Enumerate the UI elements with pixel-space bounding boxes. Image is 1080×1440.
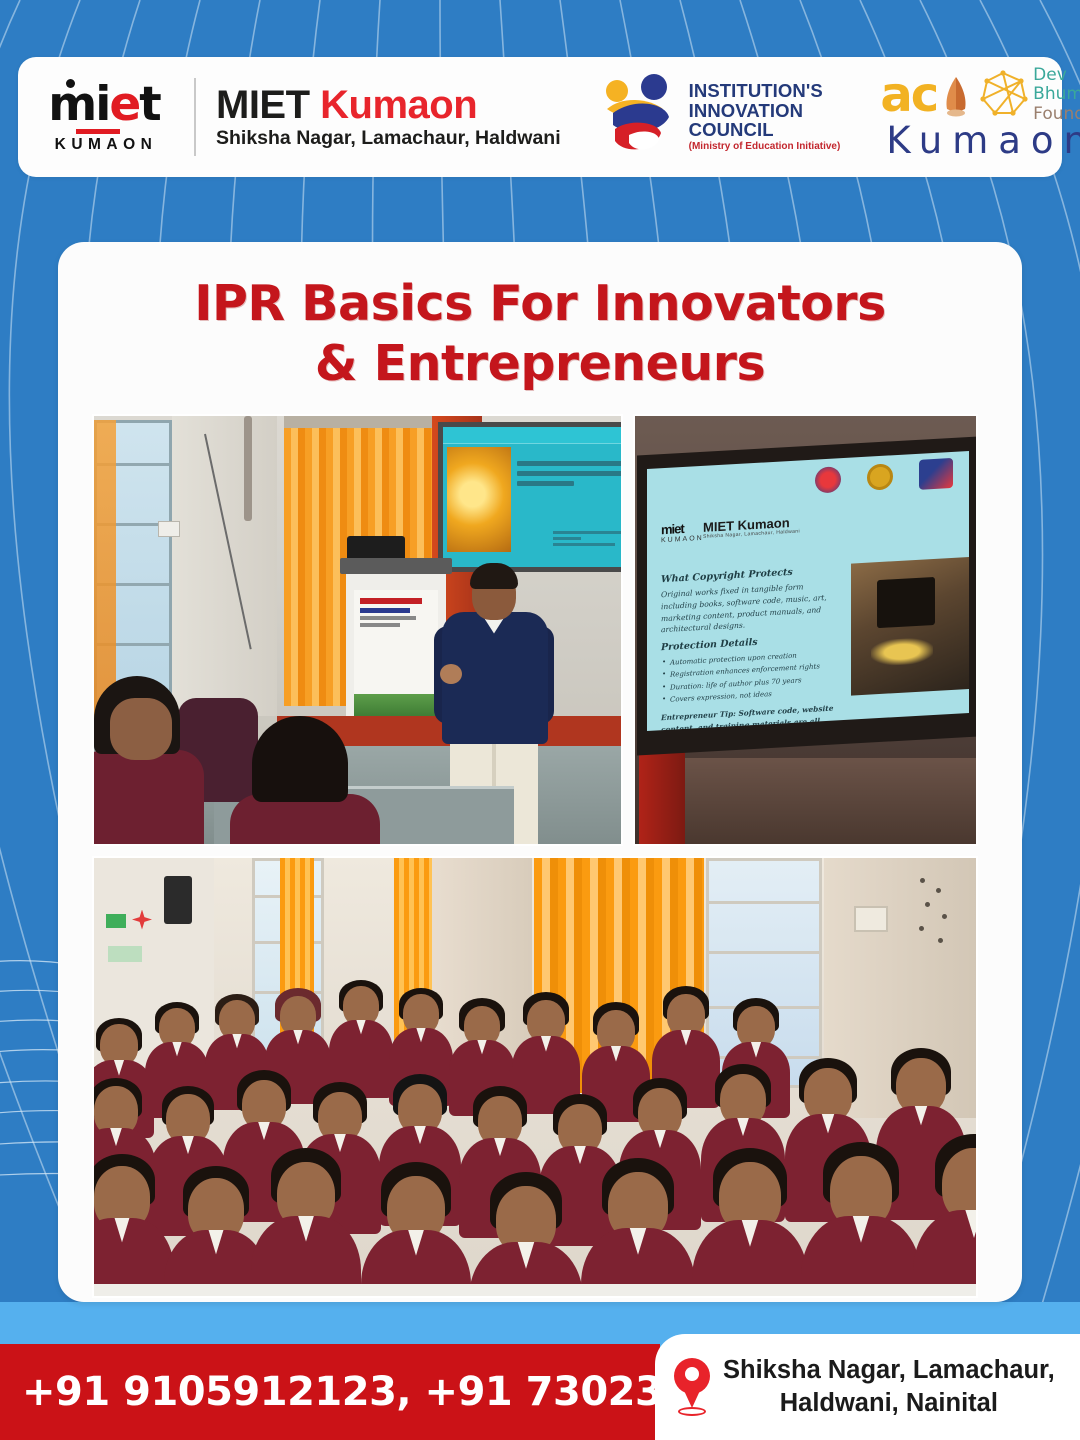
location-pin-icon (669, 1358, 715, 1416)
miet-e: e (109, 77, 139, 132)
address-line-1: Shiksha Nagar, Lamachaur, (723, 1354, 1055, 1387)
institute-name-miet: MIET (216, 83, 320, 127)
iic-logo-block: INSTITUTION'S INNOVATION COUNCIL (Minist… (599, 73, 841, 161)
photo-projected-copyright-slide: mietKUMAON MIET Kumaon Shiksha Nagar, La… (633, 414, 978, 846)
miet-logo-block: miet KUMAON MIET Kumaon Shiksha Nagar, L… (34, 78, 561, 156)
namaste-hands-icon (939, 73, 973, 117)
address-line-2: Haldwani, Nainital (723, 1387, 1055, 1420)
audience-person (698, 1148, 802, 1298)
slide-logo-strip (443, 427, 623, 444)
photo-row-top: mietKUMAON MIET Kumaon Shiksha Nagar, La… (92, 414, 988, 846)
institute-name-kumaon: Kumaon (320, 83, 477, 127)
iic-emblem-icon (599, 73, 679, 161)
bhumi-text: Bhumi (1033, 85, 1080, 104)
iic-ministry-note: (Ministry of Education Initiative) (689, 142, 841, 152)
slide-partner-logos (815, 457, 953, 495)
institute-name-block: MIET Kumaon Shiksha Nagar, Lamachaur, Ha… (216, 85, 561, 150)
audience-person (366, 1162, 466, 1298)
window-left-curtain (94, 420, 116, 720)
red-curtain-bottom (639, 752, 685, 844)
slide-photo-monitor (877, 576, 935, 627)
dev-text: Dev (1033, 66, 1080, 85)
front-student-1-body (92, 750, 204, 846)
iic-text-block: INSTITUTION'S INNOVATION COUNCIL (Minist… (689, 81, 841, 152)
audience-person (92, 1154, 170, 1298)
page-title-line1: IPR Basics For Innovators (92, 274, 988, 334)
miet-kumaon-subtext: KUMAON (38, 137, 174, 153)
audience-crowd (94, 958, 976, 1288)
slide-bulb-image (447, 447, 511, 552)
partner-logo-2-icon (867, 463, 893, 490)
institute-address: Shiksha Nagar, Lamachaur, Haldwani (216, 129, 561, 149)
acic-wordmark: ac (880, 71, 937, 119)
footer-phone-bar: +91 9105912123, +91 7302364613 (0, 1344, 660, 1440)
wood-panel (685, 758, 978, 844)
audience-person (168, 1166, 264, 1298)
hanging-rod (244, 416, 252, 521)
miet-mi: mi (48, 77, 109, 132)
wall-switch (158, 521, 180, 537)
conference-standee (354, 590, 438, 728)
wall-marks (916, 876, 956, 946)
wall-decoration-green (106, 914, 126, 928)
address-block: Shiksha Nagar, Lamachaur, Haldwani, Nain… (723, 1354, 1055, 1419)
slide-presenter-lines (553, 531, 623, 549)
slide-miet-mark: mietKUMAON (661, 519, 704, 543)
iic-line3: COUNCIL (689, 120, 841, 139)
speaker-hand (440, 664, 462, 684)
slide-title-lines (517, 461, 623, 491)
photo-bottom-edge (94, 1284, 976, 1296)
audience-person (808, 1142, 914, 1298)
curtain-rail (284, 416, 432, 428)
miet-t: t (139, 77, 159, 132)
page-title-line2: & Entrepreneurs (92, 334, 988, 394)
wall-pillar (172, 416, 277, 716)
wall-speaker-icon (164, 876, 192, 924)
partner-logo-1-icon (815, 466, 841, 493)
footer-address-card: Shiksha Nagar, Lamachaur, Haldwani, Nain… (655, 1334, 1080, 1440)
acic-logo-block: ac (880, 67, 1080, 167)
acic-polygon-icon (973, 69, 1029, 121)
iic-line1: INSTITUTION'S (689, 81, 841, 100)
photo-student-audience (92, 856, 978, 1298)
institute-name: MIET Kumaon (216, 85, 561, 126)
slide-text-body: What Copyright Protects Original works f… (661, 558, 836, 731)
page-title: IPR Basics For Innovators & Entrepreneur… (92, 274, 988, 394)
wall-socket (854, 906, 888, 932)
podium-top (340, 558, 452, 574)
main-content-card: IPR Basics For Innovators & Entrepreneur… (58, 242, 1022, 1302)
slide-stock-photo (851, 556, 969, 695)
audience-person (256, 1148, 356, 1298)
projection-screen (438, 422, 623, 572)
photo-gallery: mietKUMAON MIET Kumaon Shiksha Nagar, La… (92, 414, 988, 1298)
slide-photo-glow (871, 637, 933, 666)
header-logo-bar: miet KUMAON MIET Kumaon Shiksha Nagar, L… (18, 57, 1062, 177)
audience-person (586, 1158, 690, 1298)
copyright-slide: mietKUMAON MIET Kumaon Shiksha Nagar, La… (647, 451, 969, 731)
logo-divider (194, 78, 196, 156)
acic-kumaon-text: Kumaon (886, 119, 1080, 162)
miet-wordmark: miet (48, 81, 159, 128)
iic-line2: INNOVATION (689, 101, 841, 120)
front-student-1-face (110, 698, 172, 760)
miet-logo-mark: miet KUMAON (34, 81, 174, 153)
acic-top-row: ac (880, 67, 1080, 123)
dev-bhumi-foundation-text: Dev Bhumi Foundation (1033, 66, 1080, 123)
audience-person (920, 1134, 978, 1298)
podium (346, 572, 446, 732)
slide-paragraph-1: Original works fixed in tangible form in… (661, 579, 836, 636)
audience-person (474, 1172, 578, 1298)
photo-speaker-addressing-audience (92, 414, 623, 846)
iic-logo-icon (919, 457, 953, 489)
